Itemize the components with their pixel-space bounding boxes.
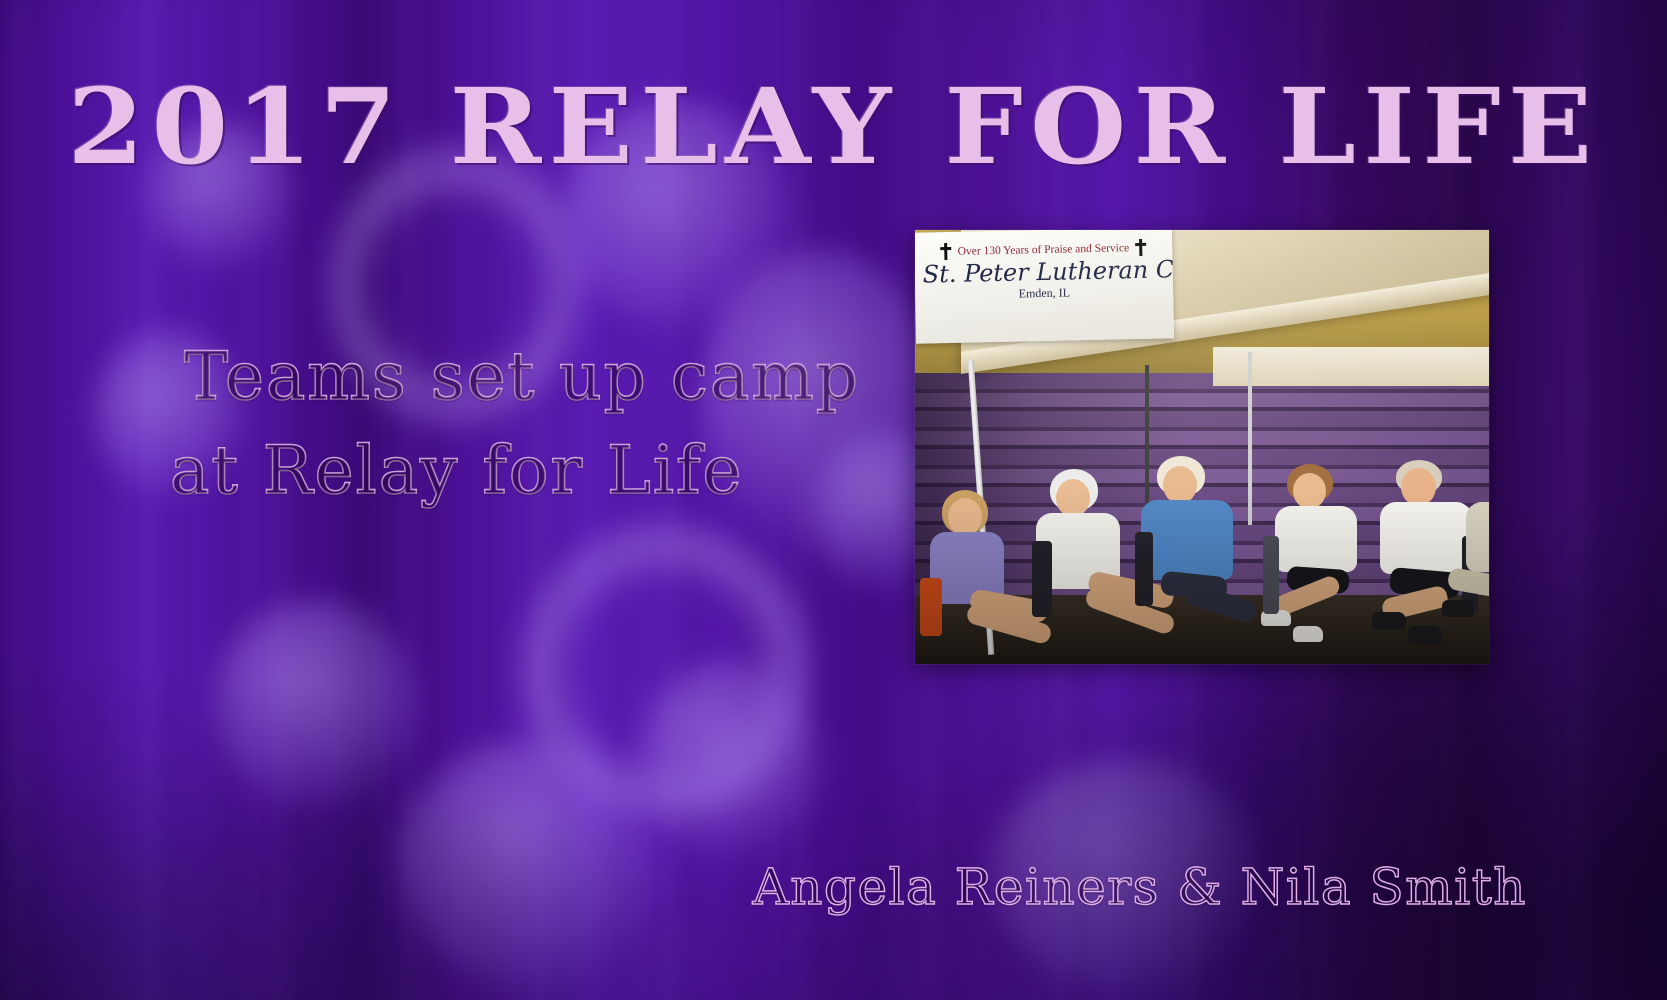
subtitle-line-1: Teams set up camp bbox=[150, 330, 910, 424]
chair bbox=[920, 578, 942, 636]
person-seated bbox=[1145, 456, 1271, 664]
shoe bbox=[1408, 626, 1442, 644]
event-photo: Over 130 Years of Praise and Service St.… bbox=[915, 230, 1489, 664]
torso bbox=[1380, 502, 1472, 574]
head bbox=[1401, 468, 1436, 506]
cross-icon bbox=[1135, 239, 1146, 256]
torso bbox=[1141, 500, 1233, 580]
torso bbox=[1466, 502, 1489, 572]
cross-icon bbox=[940, 243, 951, 260]
banner-tagline: Over 130 Years of Praise and Service bbox=[958, 242, 1130, 258]
chair bbox=[1032, 541, 1052, 617]
shoe bbox=[1442, 600, 1474, 617]
bokeh-circle bbox=[640, 660, 820, 860]
shoe bbox=[1293, 626, 1323, 642]
person-seated-partial bbox=[1466, 482, 1489, 664]
banner-church-name: St. Peter Lutheran Church bbox=[922, 256, 1165, 287]
canopy-back-panel bbox=[1213, 347, 1489, 386]
head bbox=[1056, 479, 1090, 517]
subtitle-line-2: at Relay for Life bbox=[150, 424, 910, 518]
chair bbox=[1263, 536, 1279, 614]
person-seated bbox=[1277, 464, 1392, 664]
church-banner: Over 130 Years of Praise and Service St.… bbox=[915, 230, 1174, 343]
subtitle-block: Teams set up camp at Relay for Life bbox=[150, 330, 910, 517]
head bbox=[1163, 466, 1197, 504]
page-title-text: 2017 RELAY FOR LIFE bbox=[67, 74, 1599, 180]
byline: Angela Reiners & Nila Smith bbox=[753, 858, 1527, 916]
bokeh-circle bbox=[400, 740, 660, 990]
person-seated bbox=[926, 490, 1041, 664]
shoe bbox=[1372, 612, 1406, 630]
bokeh-circle bbox=[215, 600, 415, 810]
head bbox=[1293, 473, 1326, 509]
chair bbox=[1135, 532, 1153, 606]
poster-canvas: 2017 RELAY FOR LIFE Teams set up camp at… bbox=[0, 0, 1667, 1000]
torso bbox=[1275, 506, 1357, 572]
page-title: 2017 RELAY FOR LIFE bbox=[0, 74, 1667, 180]
